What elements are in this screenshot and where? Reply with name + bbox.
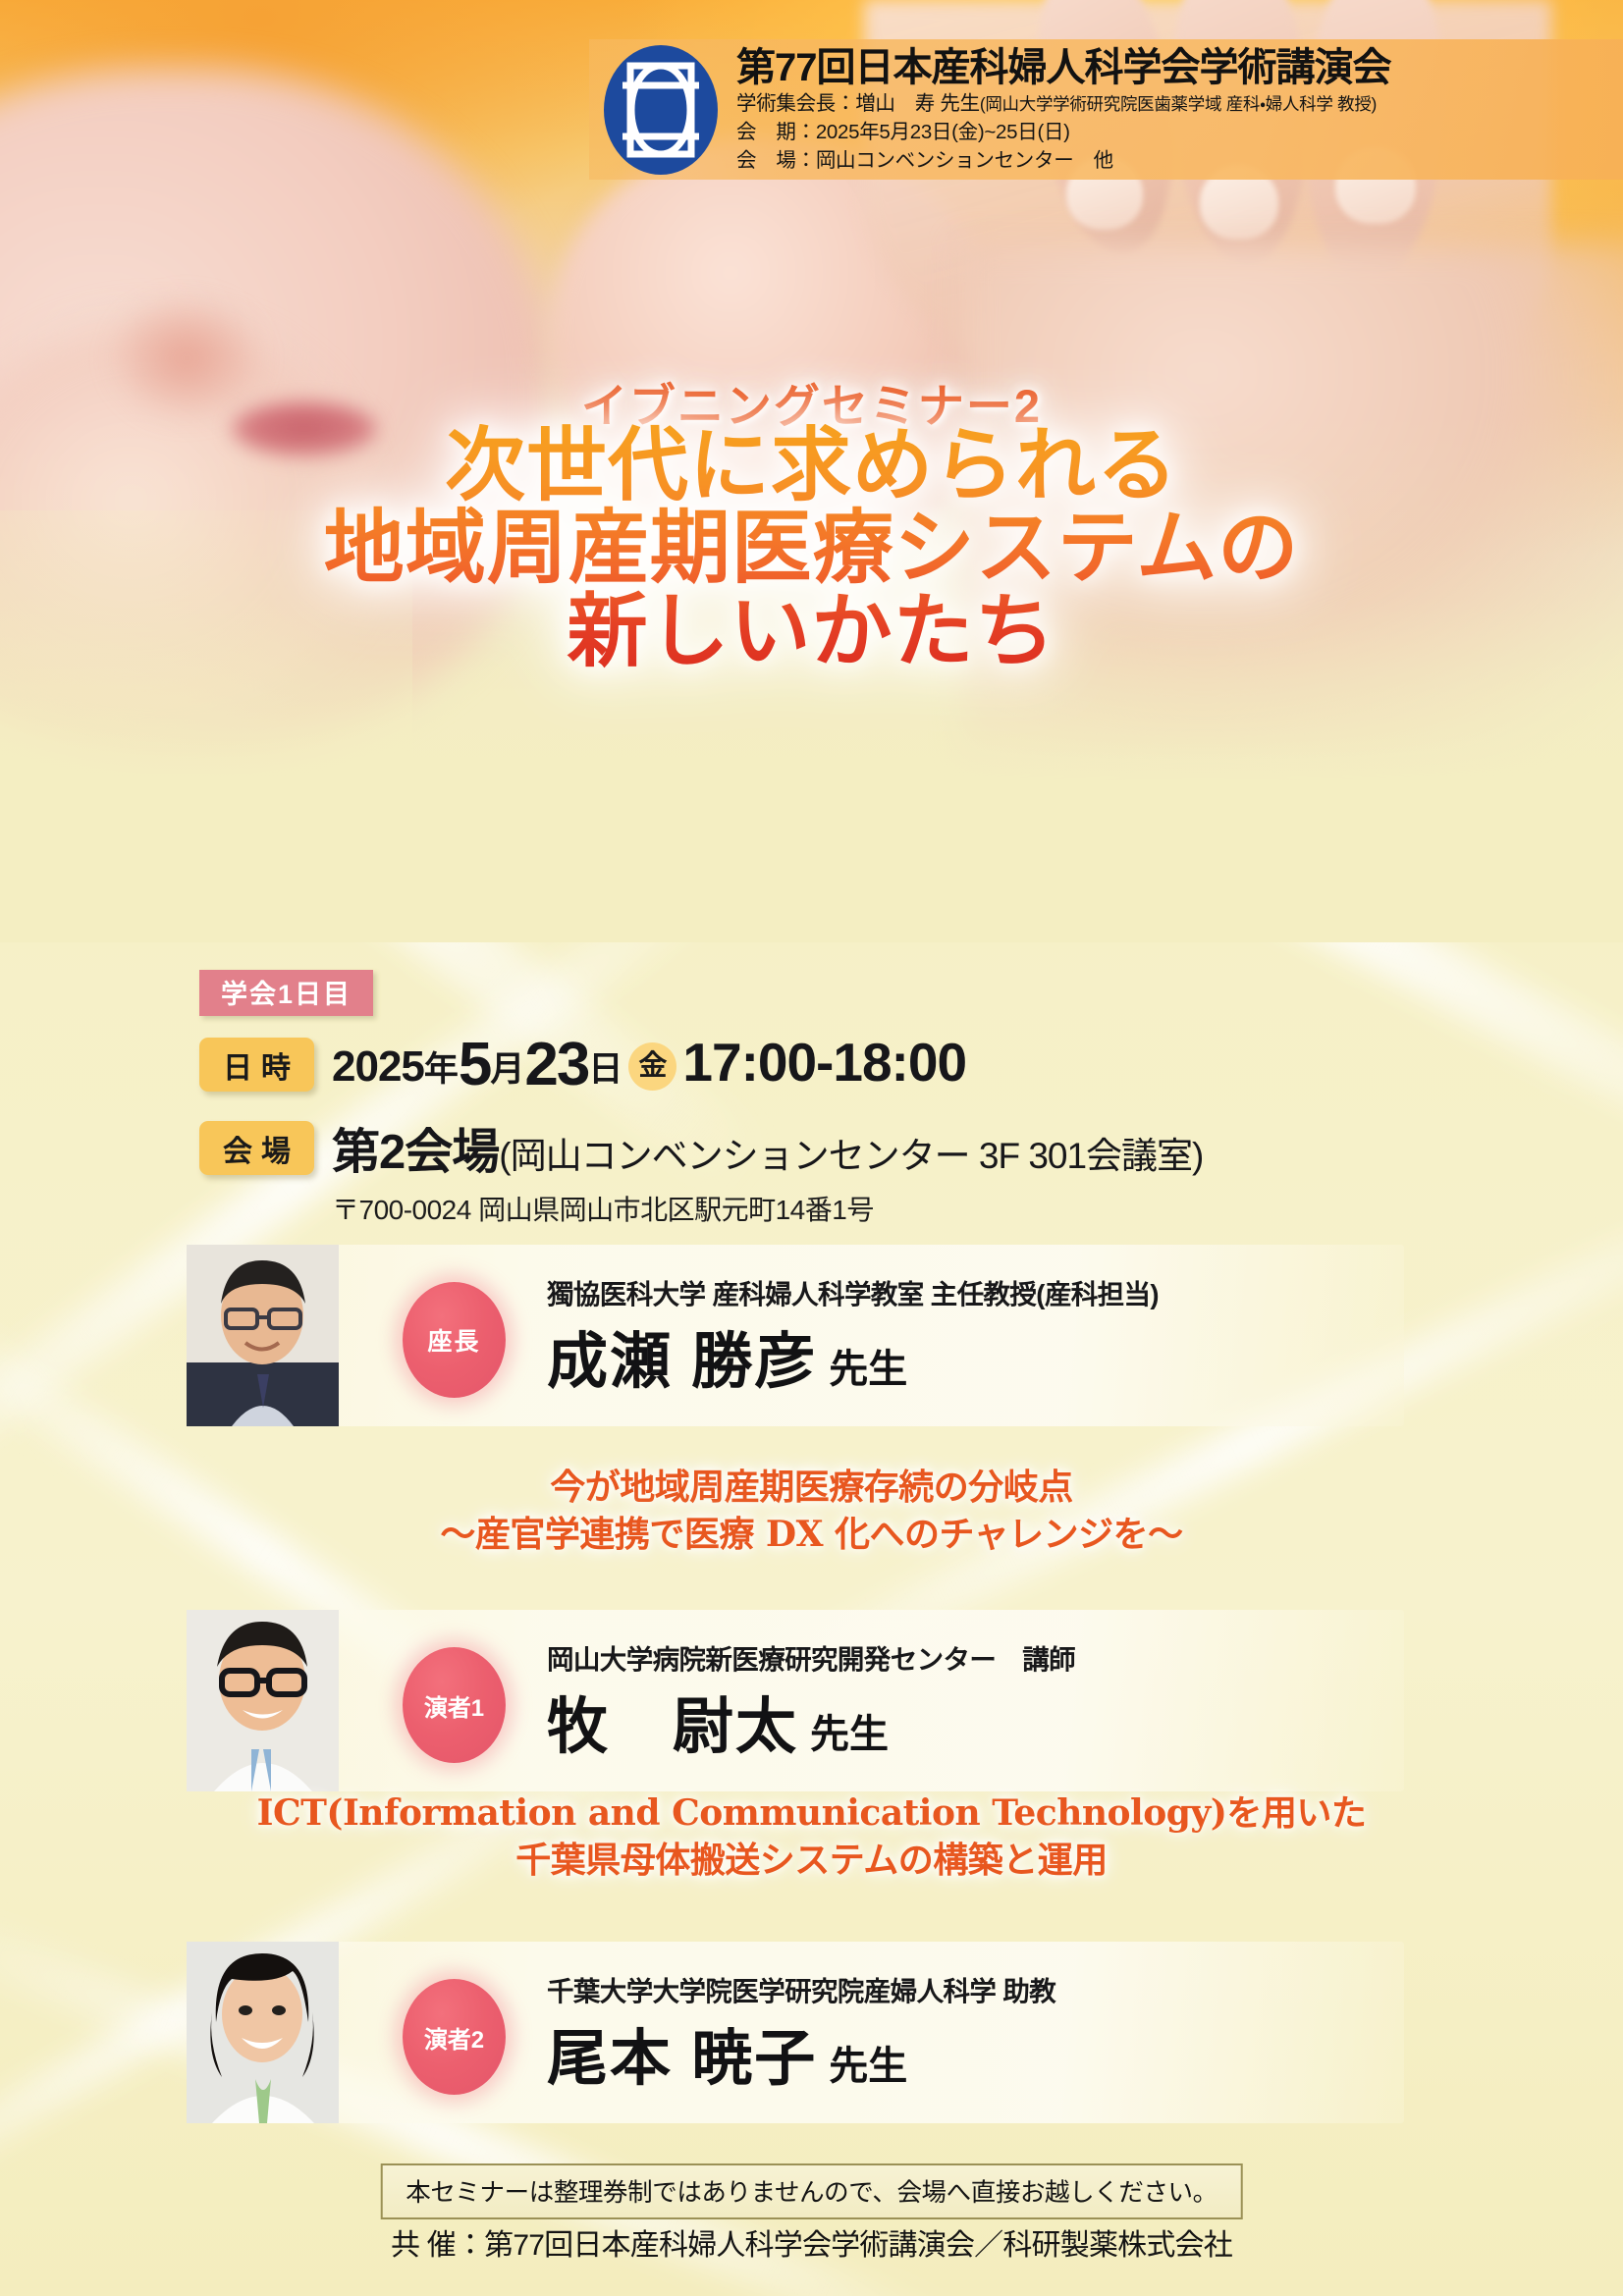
date-month: 5 [459, 1031, 490, 1098]
speaker-2-name: 尾本 暁子 [547, 2025, 817, 2093]
date-day: 23 [524, 1031, 588, 1098]
chair-affiliation: (岡山大学学術研究院医歯薬学域 産科・婦人科学 教授) [980, 94, 1377, 114]
datetime-value: 2025年5月23日金17:00-18:00 [332, 1030, 966, 1099]
venue-detail: (岡山コンベンションセンター 3F 301会議室) [499, 1136, 1203, 1176]
speaker-2-affiliation: 千葉大学大学院医学研究院産婦人科学 助教 [547, 1969, 1055, 2008]
conference-title: 第77回日本産科婦人科学会学術講演会 [736, 46, 1623, 89]
date-day-suffix: 日 [588, 1050, 622, 1089]
speaker-1-honorific: 先生 [810, 1713, 889, 1756]
venue-line: 会 場：岡山コンベンションセンター 他 [736, 146, 1623, 175]
period-label: 会 期： [736, 121, 816, 143]
banner-text-block: 第77回日本産科婦人科学会学術講演会 学術集会長：増山 寿 先生(岡山大学学術研… [736, 44, 1623, 175]
sponsor-line: 共 催：第77回日本産科婦人科学会学術講演会／科研製薬株式会社 [0, 2220, 1623, 2264]
venue-value: 岡山コンベンションセンター 他 [816, 149, 1113, 172]
chairperson-honorific: 先生 [829, 1348, 907, 1391]
period-line: 会 期：2025年5月23日(金)~25日(日) [736, 118, 1623, 146]
speaker-2-name-group: 尾本 暁子先生 [547, 2008, 907, 2097]
speaker-1-row: 演者1 岡山大学病院新医療研究開発センター 講師 牧 尉太先生 [187, 1610, 1463, 1806]
poster-page: 第77回日本産科婦人科学会学術講演会 学術集会長：増山 寿 先生(岡山大学学術研… [0, 0, 1623, 2296]
conference-header-banner: 第77回日本産科婦人科学会学術講演会 学術集会長：増山 寿 先生(岡山大学学術研… [589, 39, 1623, 180]
date-year-suffix: 年 [424, 1050, 459, 1089]
day-of-week-badge: 金 [628, 1042, 676, 1091]
jsog-circle-logo [601, 42, 721, 178]
period-value: 2025年5月23日(金)~25日(日) [816, 121, 1070, 143]
datetime-pill: 日時 [199, 1038, 314, 1092]
lecture-2-line-1: ICT(Information and Communication Techno… [0, 1790, 1623, 1838]
date-year: 2025 [332, 1042, 424, 1091]
date-month-suffix: 月 [490, 1050, 524, 1089]
venue-label: 会 場： [736, 149, 816, 172]
speaker-2-row: 演者2 千葉大学大学院医学研究院産婦人科学 助教 尾本 暁子先生 [187, 1942, 1463, 2138]
venue-row: 会場 第2会場(岡山コンベンションセンター 3F 301会議室) [199, 1113, 1623, 1183]
speaker-1-badge: 演者1 [403, 1647, 506, 1763]
event-info-block: 学会1日目 日時 2025年5月23日金17:00-18:00 会場 第2会場(… [0, 970, 1623, 1228]
chairperson-affiliation: 獨協医科大学 産科婦人科学教室 主任教授(産科担当) [547, 1272, 1159, 1311]
chair-label: 学術集会長： [736, 92, 855, 115]
chair-name: 増山 寿 先生 [855, 92, 980, 115]
speaker-1-name: 牧 尉太 [547, 1693, 798, 1761]
chair-line: 学術集会長：増山 寿 先生(岡山大学学術研究院医歯薬学域 産科・婦人科学 教授) [736, 89, 1623, 118]
attendance-notice: 本セミナーは整理券制ではありませんので、会場へ直接お越しください。 [380, 2163, 1243, 2219]
speaker-2-headshot [187, 1942, 339, 2123]
speaker-2-honorific: 先生 [829, 2045, 907, 2088]
lecture-1-line-1: 今が地域周産期医療存続の分岐点 [0, 1465, 1623, 1512]
chairperson-name: 成瀬 勝彦 [547, 1328, 817, 1396]
title-line-3: 新しいかたち [0, 590, 1623, 672]
title-line-2: 地域周産期医療システムの [0, 507, 1623, 589]
speaker-1-affiliation: 岡山大学病院新医療研究開発センター 講師 [547, 1637, 1075, 1677]
venue-pill: 会場 [199, 1121, 314, 1175]
speaker-1-headshot [187, 1610, 339, 1791]
chairperson-row: 座長 獨協医科大学 産科婦人科学教室 主任教授(産科担当) 成瀬 勝彦先生 [187, 1245, 1463, 1441]
chairperson-headshot [187, 1245, 339, 1426]
seminar-main-title: 次世代に求められる 地域周産期医療システムの 新しいかたち [0, 424, 1623, 672]
venue-value-group: 第2会場(岡山コンベンションセンター 3F 301会議室) [332, 1113, 1203, 1183]
chairperson-badge: 座長 [403, 1282, 506, 1398]
speaker-2-badge: 演者2 [403, 1979, 506, 2095]
chairperson-name-group: 成瀬 勝彦先生 [547, 1311, 907, 1400]
lecture-2-line-2: 千葉県母体搬送システムの構築と運用 [0, 1838, 1623, 1885]
lecture-title-2: ICT(Information and Communication Techno… [0, 1790, 1623, 1884]
time-range: 17:00-18:00 [682, 1032, 966, 1093]
venue-address: 〒700-0024 岡山県岡山市北区駅元町14番1号 [332, 1189, 1623, 1228]
speaker-1-name-group: 牧 尉太先生 [547, 1677, 889, 1765]
conference-day-tag: 学会1日目 [199, 970, 373, 1016]
venue-main: 第2会場 [332, 1126, 499, 1179]
datetime-row: 日時 2025年5月23日金17:00-18:00 [199, 1030, 1623, 1099]
title-line-1: 次世代に求められる [0, 424, 1623, 507]
lecture-1-line-2: 〜産官学連携で医療 DX 化へのチャレンジを〜 [0, 1512, 1623, 1559]
lecture-title-1: 今が地域周産期医療存続の分岐点 〜産官学連携で医療 DX 化へのチャレンジを〜 [0, 1465, 1623, 1558]
